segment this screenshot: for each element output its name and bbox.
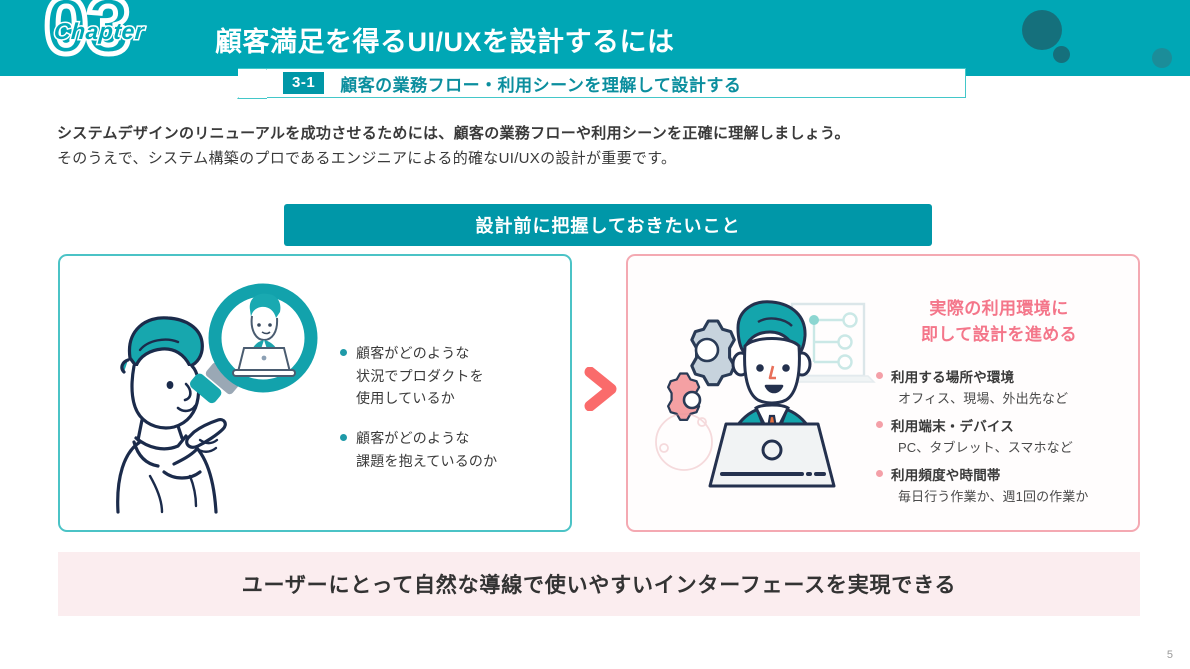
chapter-badge: 03 Chapter — [44, 0, 234, 76]
section-heading-banner-text: 設計前に把握しておきたいこと — [476, 212, 741, 238]
left-bullet-text-1: 顧客がどのような課題を抱えているのか — [356, 427, 497, 472]
right-bullet-title-1: 利用端末・デバイス — [891, 415, 1073, 435]
right-card-bullet-list: 利用する場所や環境 オフィス、現場、外出先など 利用端末・デバイス PC、タブレ… — [876, 366, 1134, 513]
list-item: 顧客がどのような課題を抱えているのか — [340, 427, 555, 472]
left-card: 顧客がどのような状況でプロダクトを使用しているか 顧客がどのような課題を抱えてい… — [58, 254, 572, 532]
list-item: 利用頻度や時間帯 毎日行う作業か、週1回の作業か — [876, 464, 1134, 505]
section-subtitle-inner: 3-1 顧客の業務フロー・利用シーンを理解して設計する — [238, 68, 966, 98]
right-bullet-sub-0: オフィス、現場、外出先など — [898, 388, 1068, 407]
right-heading-line-1: 実際の利用環境に — [874, 296, 1124, 322]
bullet-dot-icon — [340, 349, 347, 356]
engineer-with-laptop-and-gears-illustration — [642, 290, 882, 512]
right-bullet-sub-2: 毎日行う作業か、週1回の作業か — [898, 486, 1088, 505]
conclusion-banner: ユーザーにとって自然な導線で使いやすいインターフェースを実現できる — [58, 552, 1140, 616]
page-number: 5 — [1167, 649, 1173, 661]
right-heading-line-2: 即して設計を進める — [874, 322, 1124, 348]
conclusion-banner-text: ユーザーにとって自然な導線で使いやすいインターフェースを実現できる — [242, 569, 957, 599]
intro-paragraph: システムデザインのリニューアルを成功させるためには、顧客の業務フローや利用シーン… — [57, 122, 1137, 171]
right-bullet-title-2: 利用頻度や時間帯 — [891, 464, 1088, 484]
section-heading-banner: 設計前に把握しておきたいこと — [284, 204, 932, 246]
right-card: 実際の利用環境に 即して設計を進める 利用する場所や環境 オフィス、現場、外出先… — [626, 254, 1140, 532]
slide-header: 03 Chapter 顧客満足を得るUI/UXを設計するには — [0, 0, 1190, 76]
left-card-bullet-list: 顧客がどのような状況でプロダクトを使用しているか 顧客がどのような課題を抱えてい… — [340, 342, 555, 489]
slide-root: 03 Chapter 顧客満足を得るUI/UXを設計するには 3-1 顧客の業務… — [0, 0, 1190, 669]
list-item: 利用する場所や環境 オフィス、現場、外出先など — [876, 366, 1134, 407]
list-item: 利用端末・デバイス PC、タブレット、スマホなど — [876, 415, 1134, 456]
section-subtitle-bar: 3-1 顧客の業務フロー・利用シーンを理解して設計する — [238, 68, 966, 98]
bullet-dot-icon — [876, 470, 883, 477]
right-bullet-title-0: 利用する場所や環境 — [891, 366, 1068, 386]
left-bullet-text-0: 顧客がどのような状況でプロダクトを使用しているか — [356, 342, 484, 410]
header-circle-side-icon — [1152, 48, 1172, 68]
page-title: 顧客満足を得るUI/UXを設計するには — [215, 20, 675, 59]
intro-line-1: システムデザインのリニューアルを成功させるためには、顧客の業務フローや利用シーン… — [57, 122, 1137, 145]
section-number-badge: 3-1 — [283, 72, 324, 94]
subtitle-notch-shape — [237, 69, 267, 99]
bullet-dot-icon — [340, 434, 347, 441]
header-circle-large-icon — [1022, 10, 1062, 50]
list-item: 顧客がどのような状況でプロダクトを使用しているか — [340, 342, 555, 410]
header-circle-small-icon — [1053, 46, 1070, 63]
chapter-label: Chapter — [53, 18, 145, 45]
bullet-dot-icon — [876, 372, 883, 379]
right-card-heading: 実際の利用環境に 即して設計を進める — [874, 296, 1124, 347]
bullet-dot-icon — [876, 421, 883, 428]
person-with-magnifying-glass-illustration — [78, 280, 328, 516]
right-bullet-sub-1: PC、タブレット、スマホなど — [898, 437, 1073, 456]
chevron-right-arrow-icon — [583, 367, 619, 411]
section-subtitle-text: 顧客の業務フロー・利用シーンを理解して設計する — [340, 71, 741, 96]
intro-line-2: そのうえで、システム構築のプロであるエンジニアによる的確なUI/UXの設計が重要… — [57, 147, 1137, 170]
